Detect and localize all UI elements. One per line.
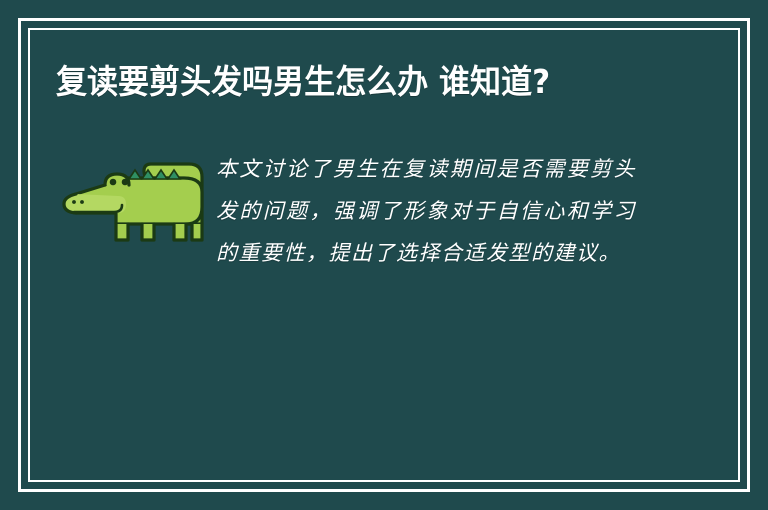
page-title: 复读要剪头发吗男生怎么办 谁知道? bbox=[56, 58, 639, 106]
summary-row: 本文讨论了男生在复读期间是否需要剪头发的问题，强调了形象对于自信心和学习的重要性… bbox=[56, 148, 712, 274]
card-content: 复读要剪头发吗男生怎么办 谁知道? bbox=[28, 28, 740, 482]
article-card: 复读要剪头发吗男生怎么办 谁知道? bbox=[0, 0, 768, 510]
crocodile-icon bbox=[56, 152, 206, 244]
summary-text: 本文讨论了男生在复读期间是否需要剪头发的问题，强调了形象对于自信心和学习的重要性… bbox=[216, 148, 636, 274]
crocodile-illustration bbox=[56, 148, 216, 244]
